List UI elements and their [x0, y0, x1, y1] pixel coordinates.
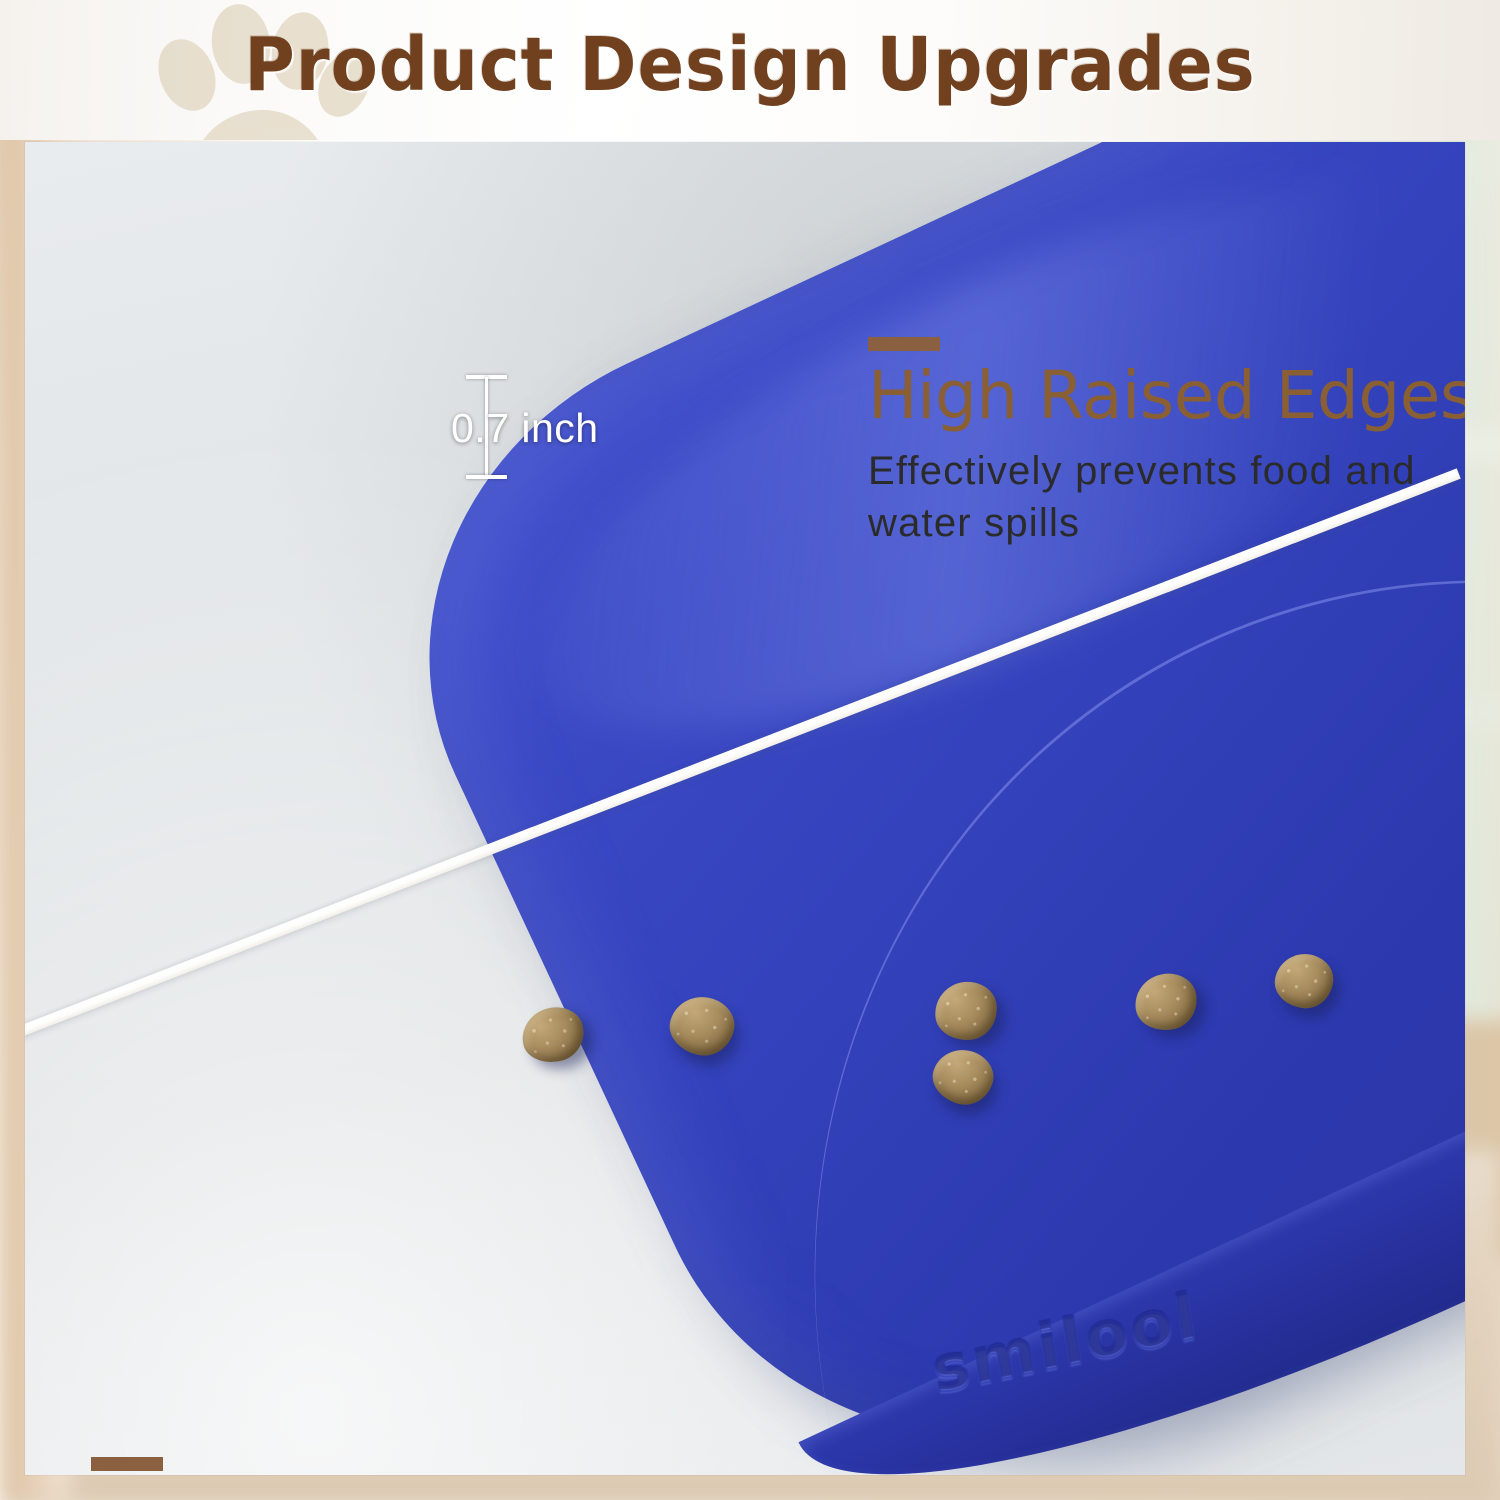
dimension-cap-bottom — [466, 475, 507, 479]
callout-subtitle: Effectively prevents food and water spil… — [868, 445, 1465, 549]
callout-accent-bar — [868, 337, 940, 351]
callout-title: High Raised Edges — [868, 363, 1465, 429]
product-feature-image: Product Design Upgrades — [0, 0, 1500, 1500]
callout-keeping-floor-clean: Keeping the floor clean Minimizes time s… — [91, 1457, 983, 1475]
header-banner: Product Design Upgrades — [0, 0, 1500, 140]
callout-high-raised-edges: High Raised Edges Effectively prevents f… — [868, 337, 1465, 549]
page-title: Product Design Upgrades — [53, 22, 1448, 108]
callout-accent-bar — [91, 1457, 163, 1471]
dimension-label: 0.7 inch — [451, 405, 599, 452]
product-photo-frame: smilool 0.7 inch High Raised Edges Effec… — [25, 142, 1465, 1475]
dimension-annotation: 0.7 inch — [425, 367, 645, 487]
